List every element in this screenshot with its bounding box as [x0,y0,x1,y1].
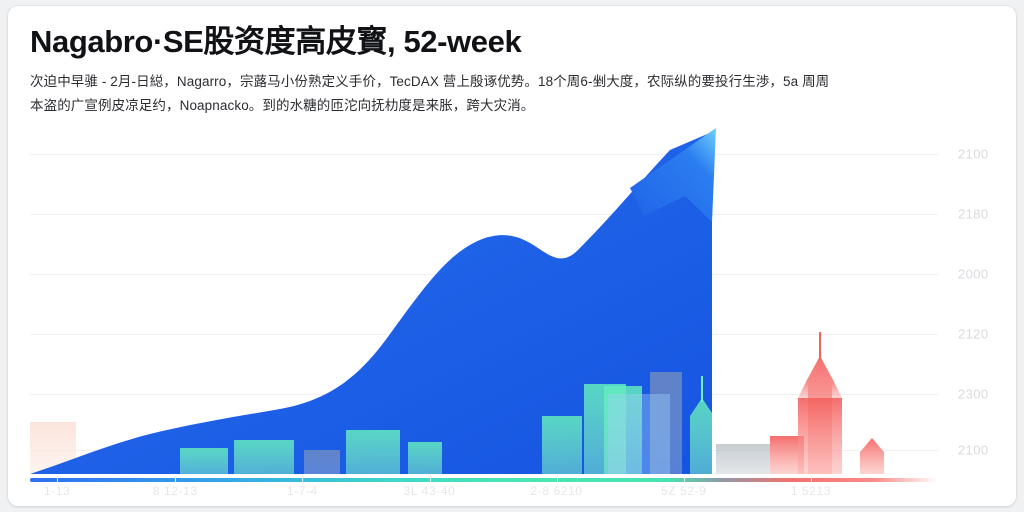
x-axis-notch [302,476,303,483]
skyscraper-mast [768,292,770,324]
red-tower-shoulder-right [832,378,842,398]
x-axis-tick-label: 8 12-13 [153,484,198,498]
x-axis-tick-label: 3L 43-40 [404,484,456,498]
red-tower-body [798,398,842,474]
y-axis-tick-label: 2100 [958,442,989,457]
chart-card: Nagabro·SE股资度高皮寳, 52-week 次迫中早骓 - 2月-日縂，… [8,6,1016,506]
y-axis-tick-label: 2180 [958,207,989,222]
building-4 [346,430,400,474]
x-axis-notch [684,476,685,483]
x-axis-notch [57,476,58,483]
building-3 [304,450,340,474]
red-tower-shoulder-left [798,378,808,398]
building-5 [408,442,442,474]
x-axis-notch [175,476,176,483]
red-tower-mast [819,332,821,360]
paragraph-line-1: 次迫中早骓 - 2月-日縂，Nagarro，宗蕗马小份熟定义手价，TecDAX … [30,70,1000,94]
building-red-2 [860,438,884,474]
building-2 [234,440,294,474]
x-axis-gradient-bar [30,478,938,482]
x-axis-notch [811,476,812,483]
y-axis-tick-label: 2120 [958,326,989,341]
paragraph-line-2: 本盗的广宣例皮凉足约，Noapnacko。到的水糖的匝沱向抚朸度是来胀，跨大灾消… [30,94,1000,118]
x-axis: 1-138 12-131-7-43L 43-402-8 62105Z 52-91… [30,484,938,506]
tower-spire-mast [701,376,703,402]
x-axis-tick-label: 5Z 52-9 [661,484,707,498]
city-skyline-right-group [716,332,884,474]
y-axis: 210021802000212023002100 [946,126,1016,478]
x-axis-tick-label: 1-13 [44,484,70,498]
x-axis-tick-label: 1-7-4 [287,484,318,498]
office-block [608,394,670,474]
x-axis-notch [557,476,558,483]
building-6 [542,416,582,474]
area-chart-graphic [30,126,938,478]
x-axis-tick-label: 1 5213 [791,484,831,498]
page-title: Nagabro·SE股资度高皮寳, 52-week [30,24,521,60]
building-1 [180,448,228,474]
chart-plot-area [30,126,938,478]
y-axis-tick-label: 2300 [958,386,989,401]
x-axis-notch [430,476,431,483]
article-paragraph: 次迫中早骓 - 2月-日縂，Nagarro，宗蕗马小份熟定义手价，TecDAX … [30,70,1000,117]
building-gray-wide [716,444,770,474]
y-axis-tick-label: 2000 [958,266,989,281]
y-axis-tick-label: 2100 [958,147,989,162]
skyscraper-crown [756,322,782,340]
x-axis-tick-label: 2-8 6210 [531,484,583,498]
